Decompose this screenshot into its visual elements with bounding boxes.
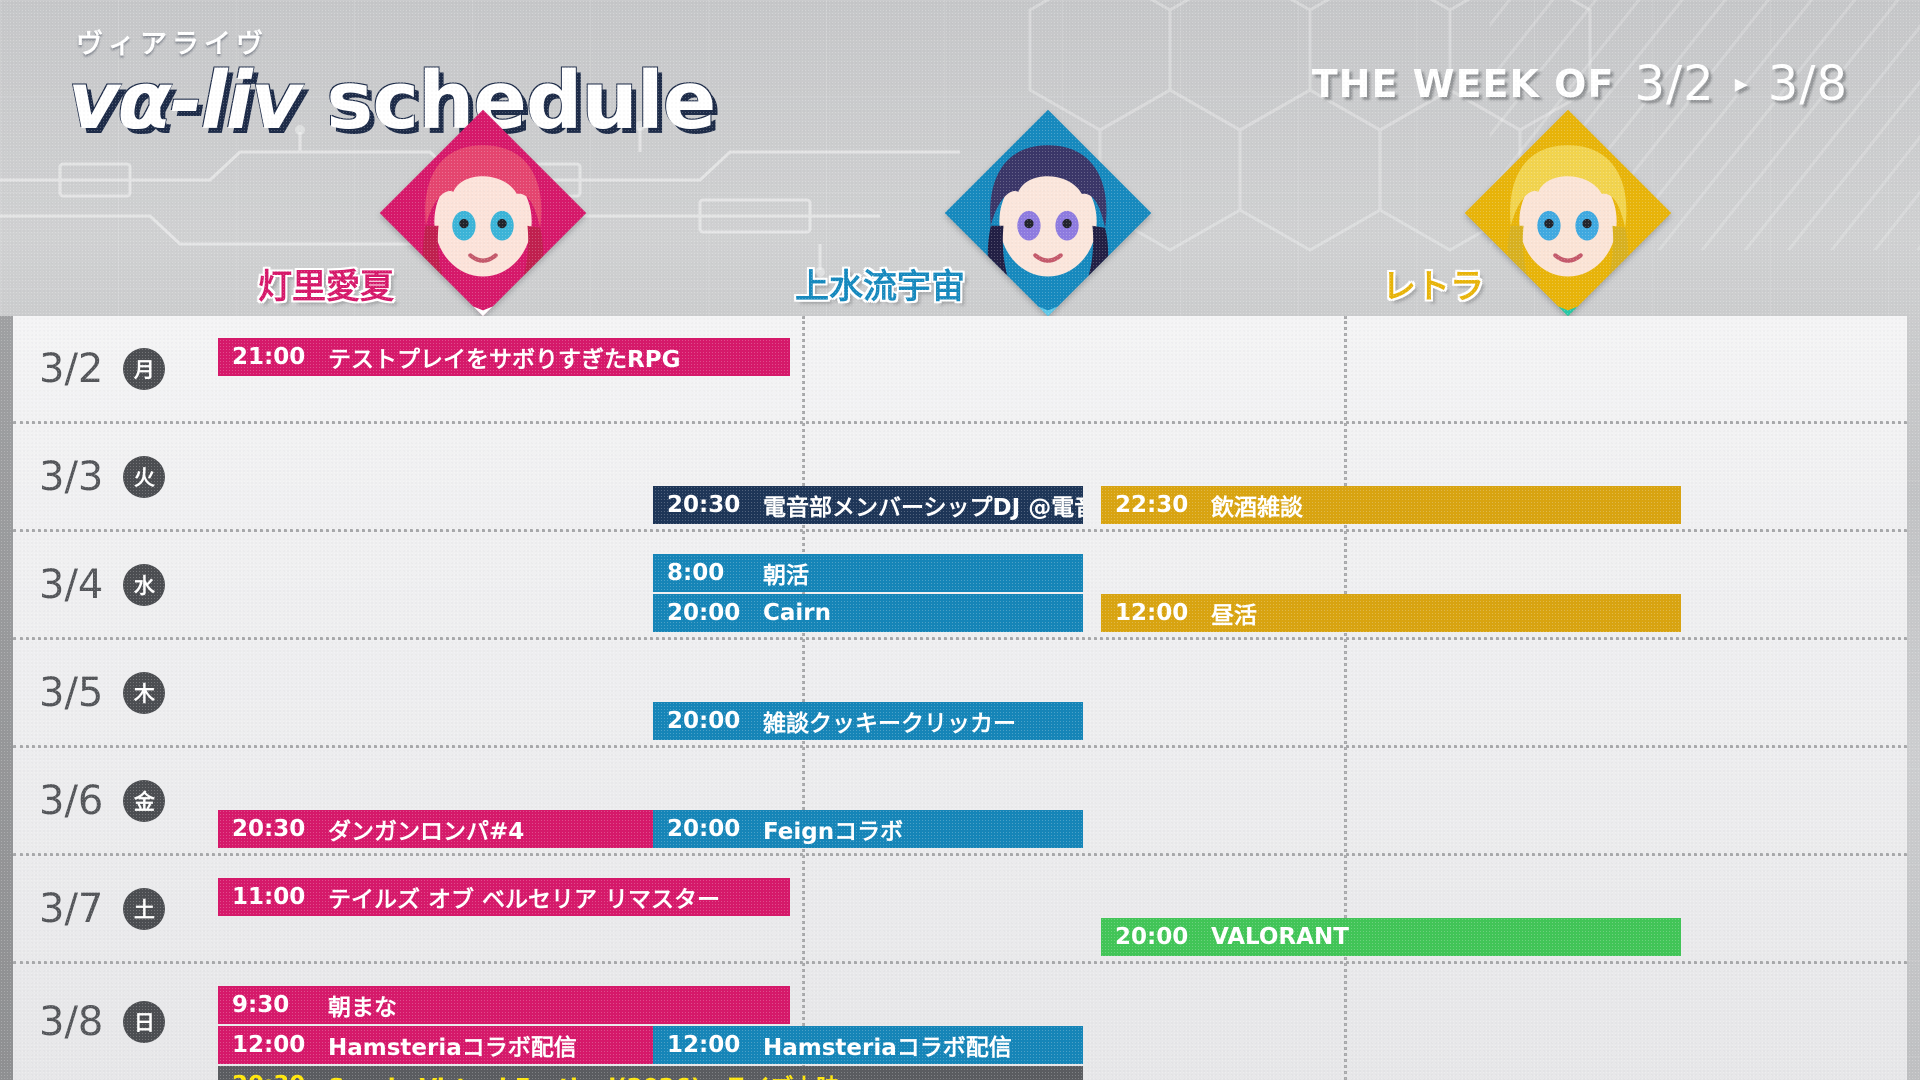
member-name-label: レトラ [1382, 259, 1484, 308]
event-bar[interactable]: 11:00テイルズ オブ ベルセリア リマスター [218, 878, 790, 916]
event-title: ダンガンロンパ#4 [328, 812, 524, 846]
event-time: 12:00 [667, 1032, 753, 1058]
event-time: 9:30 [232, 992, 318, 1018]
event-bar[interactable]: 20:00Feignコラボ [653, 810, 1083, 848]
event-title: テストプレイをサボりすぎたRPG [328, 340, 680, 374]
event-time: 12:00 [1115, 600, 1201, 626]
member-name-label: 灯里愛夏 [258, 259, 394, 308]
left-accent-bar [0, 316, 13, 1080]
event-title: VALORANT [1211, 924, 1349, 950]
row-events: 9:30朝まな12:00Hamsteriaコラボ配信12:00Hamsteria… [13, 964, 1907, 1080]
event-title: 雑談クッキークリッカー [763, 704, 1016, 738]
event-bar[interactable]: 20:30Sanrio Virtual Festival(2026) ライブ上映 [218, 1066, 1083, 1080]
logo: ヴィアライヴ vα-liv schedule [68, 22, 715, 147]
event-bar[interactable]: 20:00VALORANT [1101, 918, 1681, 956]
event-time: 12:00 [232, 1032, 318, 1058]
member-header-row: 灯里愛夏上水流宇宙レトラ [0, 140, 1920, 320]
event-bar[interactable]: 12:00昼活 [1101, 594, 1681, 632]
event-time: 20:30 [667, 492, 753, 518]
event-time: 20:30 [232, 816, 318, 842]
row-events: 20:00雑談クッキークリッカー [13, 640, 1907, 745]
week-range: THE WEEK OF 3/2 ▸ 3/8 [1312, 56, 1848, 112]
logo-schedule-text: schedule [326, 55, 715, 147]
row-events: 8:00朝活20:00Cairn12:00昼活 [13, 532, 1907, 637]
event-time: 20:00 [667, 816, 753, 842]
schedule-row: 3/3火20:30電音部メンバーシップDJ @電音部ch22:30飲酒雑談 [13, 424, 1907, 532]
event-title: テイルズ オブ ベルセリア リマスター [328, 880, 720, 914]
event-time: 21:00 [232, 344, 318, 370]
event-title: 朝活 [763, 556, 809, 590]
row-events: 21:00テストプレイをサボりすぎたRPG [13, 316, 1907, 421]
avatar-akari-manaka [380, 110, 586, 316]
event-title: 飲酒雑談 [1211, 488, 1303, 522]
logo-brand-text: vα-liv [68, 55, 300, 147]
event-title: Hamsteriaコラボ配信 [763, 1028, 1012, 1062]
event-title: Sanrio Virtual Festival(2026) ライブ上映 [328, 1068, 839, 1080]
event-title: 朝まな [328, 988, 397, 1022]
schedule-row: 3/7土11:00テイルズ オブ ベルセリア リマスター20:00VALORAN… [13, 856, 1907, 964]
event-time: 20:00 [1115, 924, 1201, 950]
week-of-label: THE WEEK OF [1312, 62, 1615, 106]
event-bar[interactable]: 9:30朝まな [218, 986, 790, 1024]
event-title: Feignコラボ [763, 812, 903, 846]
event-bar[interactable]: 20:00Cairn [653, 594, 1083, 632]
event-time: 20:30 [232, 1072, 318, 1080]
arrow-right-icon: ▸ [1735, 69, 1748, 99]
event-time: 8:00 [667, 560, 753, 586]
event-title: Hamsteriaコラボ配信 [328, 1028, 577, 1062]
event-title: Cairn [763, 600, 831, 626]
event-bar[interactable]: 8:00朝活 [653, 554, 1083, 592]
avatar-kamizuru-sora [945, 110, 1151, 316]
event-title: 昼活 [1211, 596, 1257, 630]
row-events: 11:00テイルズ オブ ベルセリア リマスター20:00VALORANT [13, 856, 1907, 961]
row-events: 20:30ダンガンロンパ#420:00Feignコラボ [13, 748, 1907, 853]
event-bar[interactable]: 20:30電音部メンバーシップDJ @電音部ch [653, 486, 1083, 524]
page-header: ヴィアライヴ vα-liv schedule THE WEEK OF 3/2 ▸… [0, 0, 1920, 160]
event-bar[interactable]: 21:00テストプレイをサボりすぎたRPG [218, 338, 790, 376]
event-bar[interactable]: 12:00Hamsteriaコラボ配信 [653, 1026, 1083, 1064]
schedule-row: 3/4水8:00朝活20:00Cairn12:00昼活 [13, 532, 1907, 640]
schedule-row: 3/6金20:30ダンガンロンパ#420:00Feignコラボ [13, 748, 1907, 856]
event-time: 20:00 [667, 708, 753, 734]
row-events: 20:30電音部メンバーシップDJ @電音部ch22:30飲酒雑談 [13, 424, 1907, 529]
event-time: 20:00 [667, 600, 753, 626]
schedule-grid: 3/2月21:00テストプレイをサボりすぎたRPG3/3火20:30電音部メンバ… [13, 316, 1907, 1080]
event-time: 11:00 [232, 884, 318, 910]
member-name-label: 上水流宇宙 [795, 259, 965, 308]
week-start-date: 3/2 [1634, 56, 1714, 112]
schedule-row: 3/5木20:00雑談クッキークリッカー [13, 640, 1907, 748]
schedule-row: 3/2月21:00テストプレイをサボりすぎたRPG [13, 316, 1907, 424]
week-end-date: 3/8 [1768, 56, 1848, 112]
event-bar[interactable]: 22:30飲酒雑談 [1101, 486, 1681, 524]
avatar-retora [1465, 110, 1671, 316]
event-bar[interactable]: 20:00雑談クッキークリッカー [653, 702, 1083, 740]
event-title: 電音部メンバーシップDJ @電音部ch [763, 488, 1083, 522]
event-time: 22:30 [1115, 492, 1201, 518]
schedule-row: 3/8日9:30朝まな12:00Hamsteriaコラボ配信12:00Hamst… [13, 964, 1907, 1080]
